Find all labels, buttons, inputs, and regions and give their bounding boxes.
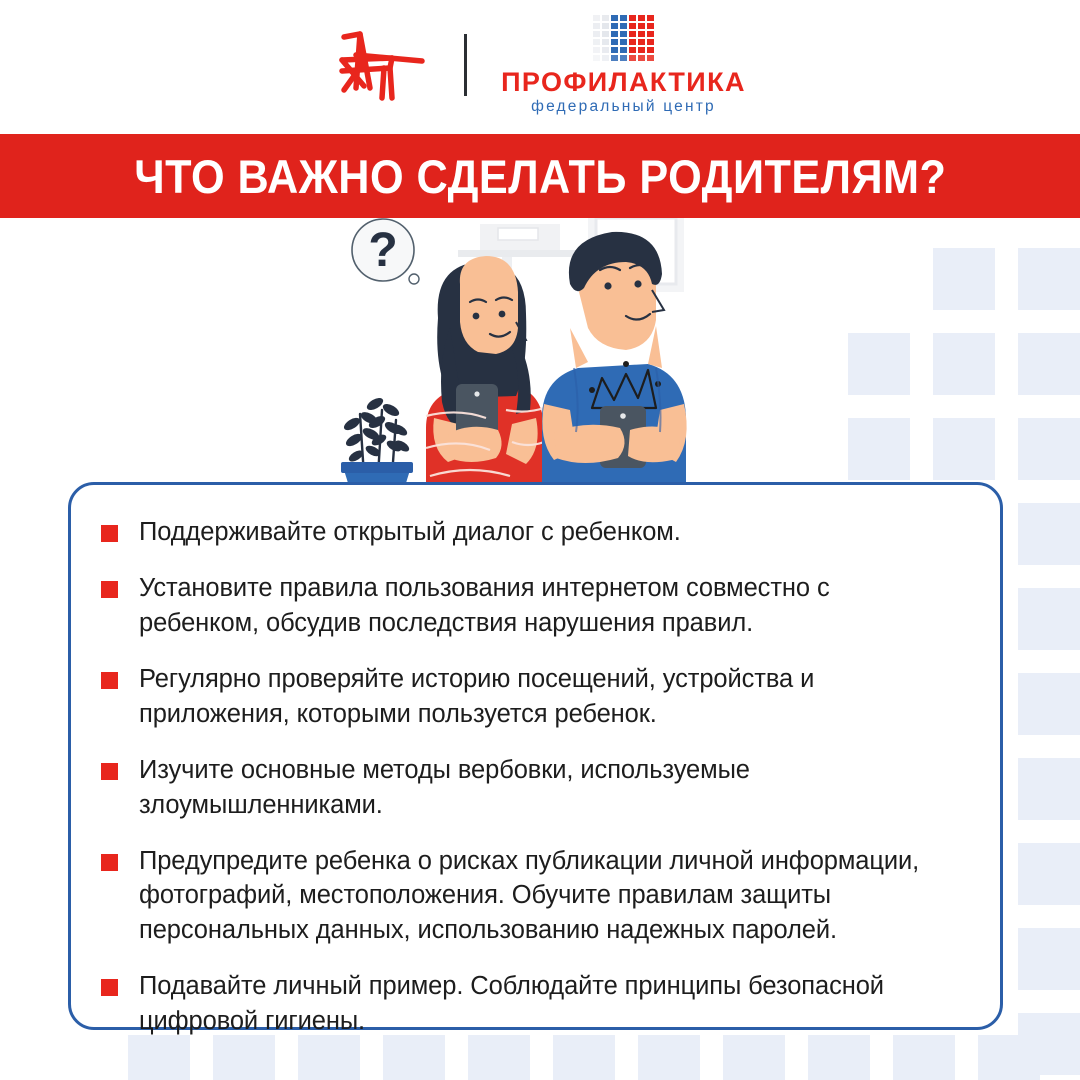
page-title: ЧТО ВАЖНО СДЕЛАТЬ РОДИТЕЛЯМ?: [134, 149, 946, 204]
bullet-text: Подавайте личный пример. Соблюдайте прин…: [139, 969, 954, 1038]
flag-grid-cell: [638, 55, 645, 61]
decorative-square: [1018, 503, 1080, 565]
bullet-text: Предупредите ребенка о рисках публикации…: [139, 844, 954, 947]
list-item: Регулярно проверяйте историю посещений, …: [101, 662, 954, 731]
list-item: Изучите основные методы вербовки, исполь…: [101, 753, 954, 822]
bullet-square-icon: [101, 525, 118, 542]
bullet-square-icon: [101, 854, 118, 871]
decorative-square: [978, 1035, 1040, 1080]
bullet-text: Изучите основные методы вербовки, исполь…: [139, 753, 954, 822]
flag-grid-cell: [629, 47, 636, 53]
decorative-square: [1018, 333, 1080, 395]
decorative-square: [723, 1035, 785, 1080]
flag-grid-cell: [602, 39, 609, 45]
title-banner: ЧТО ВАЖНО СДЕЛАТЬ РОДИТЕЛЯМ?: [0, 134, 1080, 218]
flag-grid-cell: [647, 39, 654, 45]
flag-grid-cell: [629, 23, 636, 29]
decorative-square: [553, 1035, 615, 1080]
decorative-square: [638, 1035, 700, 1080]
decorative-square: [1018, 758, 1080, 820]
advice-card: Поддерживайте открытый диалог с ребенком…: [68, 482, 1003, 1030]
flag-grid-cell: [620, 23, 627, 29]
bullet-square-icon: [101, 581, 118, 598]
flag-grid-cell: [638, 15, 645, 21]
flag-grid-cell: [611, 55, 618, 61]
decorative-square: [1018, 588, 1080, 650]
decorative-square: [213, 1035, 275, 1080]
flag-grid-cell: [593, 23, 600, 29]
flag-grid-cell: [638, 39, 645, 45]
bullet-text: Поддерживайте открытый диалог с ребенком…: [139, 515, 681, 549]
flag-grid-cell: [620, 47, 627, 53]
flag-grid-cell: [593, 39, 600, 45]
brand-subtitle: федеральный центр: [531, 99, 716, 115]
flag-grid-cell: [602, 23, 609, 29]
decorative-square: [848, 418, 910, 480]
decorative-square: [298, 1035, 360, 1080]
svg-text:?: ?: [368, 224, 397, 277]
flag-grid-cell: [620, 55, 627, 61]
brand-block: ПРОФИЛАКТИКА федеральный центр: [501, 15, 746, 115]
flag-grid-cell: [611, 23, 618, 29]
infographic-poster: ПРОФИЛАКТИКА федеральный центр ЧТО ВАЖНО…: [0, 0, 1080, 1080]
decorative-square: [128, 1035, 190, 1080]
flag-grid-cell: [647, 15, 654, 21]
decorative-square: [1018, 1013, 1080, 1075]
decorative-square: [933, 248, 995, 310]
flag-grid-cell: [593, 55, 600, 61]
flag-grid-cell: [620, 15, 627, 21]
decorative-square: [933, 418, 995, 480]
flag-grid-cell: [602, 55, 609, 61]
list-item: Предупредите ребенка о рисках публикации…: [101, 844, 954, 947]
flag-grid-cell: [611, 31, 618, 37]
flag-grid-cell: [593, 15, 600, 21]
decorative-square: [1018, 248, 1080, 310]
flag-grid-cell: [611, 39, 618, 45]
bullet-text: Регулярно проверяйте историю посещений, …: [139, 662, 954, 731]
decorative-square: [893, 1035, 955, 1080]
flag-grid-cell: [647, 55, 654, 61]
header-divider: [464, 34, 467, 96]
bullet-square-icon: [101, 979, 118, 996]
flag-grid-cell: [629, 55, 636, 61]
brand-name: ПРОФИЛАКТИКА: [501, 69, 746, 96]
bullet-square-icon: [101, 763, 118, 780]
pixel-flag-grid-icon: [593, 15, 654, 61]
flag-grid-cell: [602, 47, 609, 53]
flag-grid-cell: [647, 23, 654, 29]
flag-grid-cell: [593, 47, 600, 53]
flag-grid-cell: [620, 31, 627, 37]
decorative-square: [1018, 418, 1080, 480]
chair-line-art-icon: [334, 28, 430, 102]
header: ПРОФИЛАКТИКА федеральный центр: [0, 0, 1080, 130]
couple-with-smartphones-illustration: ?: [330, 218, 760, 496]
flag-grid-cell: [620, 39, 627, 45]
flag-grid-cell: [593, 31, 600, 37]
flag-grid-cell: [629, 15, 636, 21]
flag-grid-cell: [602, 15, 609, 21]
flag-grid-cell: [638, 31, 645, 37]
flag-grid-cell: [647, 47, 654, 53]
decorative-square: [848, 333, 910, 395]
flag-grid-cell: [638, 47, 645, 53]
bullet-text: Установите правила пользования интернето…: [139, 571, 954, 640]
flag-grid-cell: [611, 47, 618, 53]
list-item: Поддерживайте открытый диалог с ребенком…: [101, 515, 954, 549]
list-item: Подавайте личный пример. Соблюдайте прин…: [101, 969, 954, 1038]
flag-grid-cell: [611, 15, 618, 21]
decorative-square: [383, 1035, 445, 1080]
bullet-square-icon: [101, 672, 118, 689]
decorative-square: [933, 333, 995, 395]
decorative-square: [468, 1035, 530, 1080]
decorative-square: [1018, 928, 1080, 990]
flag-grid-cell: [647, 31, 654, 37]
list-item: Установите правила пользования интернето…: [101, 571, 954, 640]
flag-grid-cell: [629, 39, 636, 45]
flag-grid-cell: [602, 31, 609, 37]
flag-grid-cell: [629, 31, 636, 37]
decorative-square: [808, 1035, 870, 1080]
advice-bullet-list: Поддерживайте открытый диалог с ребенком…: [101, 515, 954, 1038]
flag-grid-cell: [638, 23, 645, 29]
decorative-square: [1018, 843, 1080, 905]
decorative-square: [1018, 673, 1080, 735]
